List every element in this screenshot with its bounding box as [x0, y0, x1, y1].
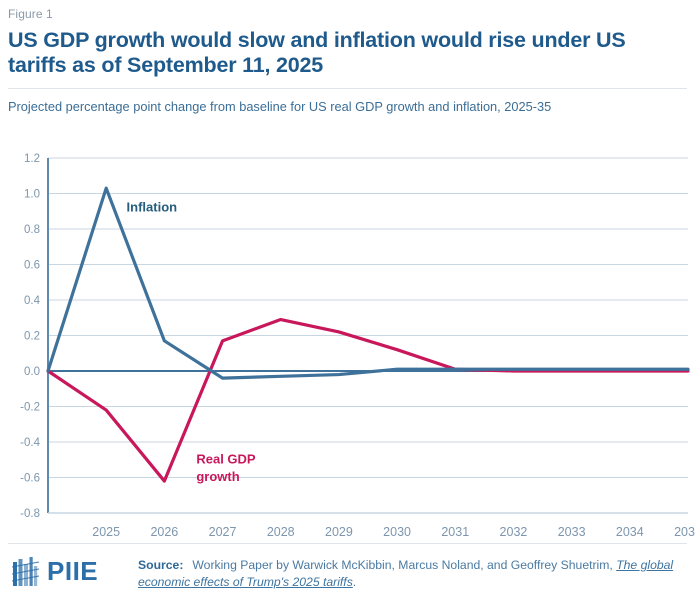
- y-tick-label: 0.6: [24, 260, 40, 272]
- x-tick-label: 2032: [500, 525, 528, 538]
- x-tick-label: 2029: [325, 525, 353, 538]
- line-chart: 1.21.00.80.60.40.20.0-0.2-0.4-0.6-0.8 20…: [0, 150, 695, 538]
- x-tick-label: 2030: [383, 525, 411, 538]
- y-tick-label: -0.2: [20, 402, 40, 414]
- x-tick-label: 2034: [616, 525, 644, 538]
- y-tick-label: 1.0: [24, 189, 40, 201]
- y-axis-tick-labels: 1.21.00.80.60.40.20.0-0.2-0.4-0.6-0.8: [20, 153, 40, 520]
- figure-label: Figure 1: [8, 7, 53, 21]
- piie-logo: PIIE: [12, 555, 98, 587]
- x-tick-label: 2035: [674, 525, 695, 538]
- figure-subtitle: Projected percentage point change from b…: [8, 98, 680, 116]
- y-tick-label: -0.6: [20, 473, 40, 485]
- x-tick-label: 2031: [441, 525, 469, 538]
- series-line-inflation: [48, 188, 688, 378]
- piie-building-icon: [12, 555, 42, 587]
- y-tick-label: -0.4: [20, 437, 40, 449]
- x-tick-label: 2028: [267, 525, 295, 538]
- y-tick-label: 0.2: [24, 331, 40, 343]
- x-tick-label: 2026: [150, 525, 178, 538]
- figure-footer: PIIE Source:Working Paper by Warwick McK…: [0, 551, 695, 600]
- page-title: US GDP growth would slow and inflation w…: [8, 28, 678, 78]
- divider-top: [8, 88, 687, 89]
- series-annotation-label: growth: [196, 469, 239, 484]
- source-period: .: [353, 575, 356, 589]
- x-tick-label: 2033: [558, 525, 586, 538]
- y-tick-label: 0.8: [24, 224, 40, 236]
- divider-bottom: [8, 543, 687, 544]
- figure-container: Figure 1 US GDP growth would slow and in…: [0, 0, 695, 600]
- source-text: Working Paper by Warwick McKibbin, Marcu…: [192, 558, 612, 572]
- source-keyword: Source:: [138, 558, 183, 572]
- y-tick-label: -0.8: [20, 508, 40, 520]
- series-annotations: InflationReal GDPgrowth: [127, 199, 256, 484]
- source-note: Source:Working Paper by Warwick McKibbin…: [138, 557, 690, 591]
- y-tick-label: 0.0: [24, 366, 40, 378]
- x-axis-tick-labels: 2025202620272028202920302031203220332034…: [92, 525, 695, 538]
- y-tick-label: 0.4: [24, 295, 41, 307]
- y-tick-label: 1.2: [24, 153, 40, 165]
- piie-logo-text: PIIE: [47, 558, 98, 584]
- series-line-real-gdp-growth: [48, 320, 688, 482]
- series-annotation-label: Inflation: [127, 199, 178, 214]
- x-tick-label: 2027: [209, 525, 237, 538]
- series-annotation-label: Real GDP: [196, 451, 256, 466]
- x-tick-label: 2025: [92, 525, 120, 538]
- chart-plot-area: 1.21.00.80.60.40.20.0-0.2-0.4-0.6-0.8 20…: [0, 150, 695, 538]
